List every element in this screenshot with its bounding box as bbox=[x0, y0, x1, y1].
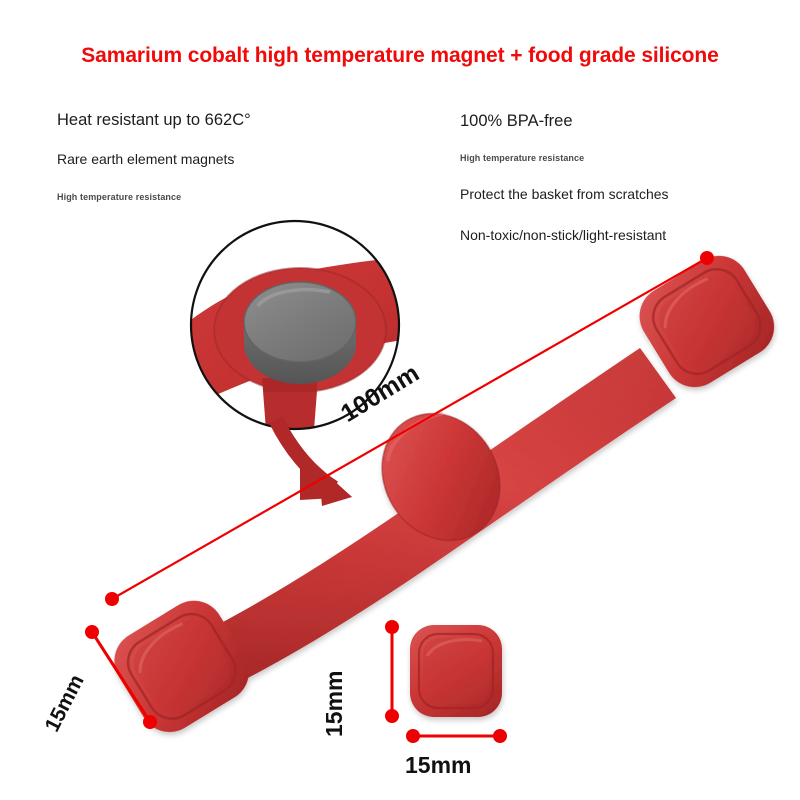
dim-endpoint-dot bbox=[144, 716, 157, 729]
page-title: Samarium cobalt high temperature magnet … bbox=[0, 44, 800, 68]
callout-arrow bbox=[276, 420, 352, 506]
dim-endpoint-dot bbox=[407, 730, 420, 743]
feature-heat-resistant: Heat resistant up to 662C° bbox=[57, 111, 251, 130]
infographic-page: Samarium cobalt high temperature magnet … bbox=[0, 0, 800, 800]
dimension-label-pad-width: 15mm bbox=[405, 752, 471, 779]
dim-endpoint-dot bbox=[386, 710, 399, 723]
feature-high-temp-left: High temperature resistance bbox=[57, 192, 181, 202]
dim-endpoint-dot bbox=[494, 730, 507, 743]
feature-rare-earth: Rare earth element magnets bbox=[57, 151, 234, 167]
dim-endpoint-dot bbox=[86, 626, 99, 639]
feature-non-toxic: Non-toxic/non-stick/light-resistant bbox=[460, 227, 666, 243]
dim-endpoint-dot bbox=[386, 621, 399, 634]
magnet-detail-callout bbox=[178, 215, 452, 437]
strap-pad-left bbox=[103, 590, 260, 744]
feature-high-temp-right: High temperature resistance bbox=[460, 153, 584, 163]
sample-pad bbox=[410, 625, 502, 717]
dim-endpoint-dot bbox=[106, 593, 119, 606]
feature-protect-basket: Protect the basket from scratches bbox=[460, 186, 669, 202]
feature-bpa-free: 100% BPA-free bbox=[460, 112, 573, 131]
dimension-label-pad-height: 15mm bbox=[321, 671, 348, 737]
dim-endpoint-dot bbox=[701, 252, 714, 265]
